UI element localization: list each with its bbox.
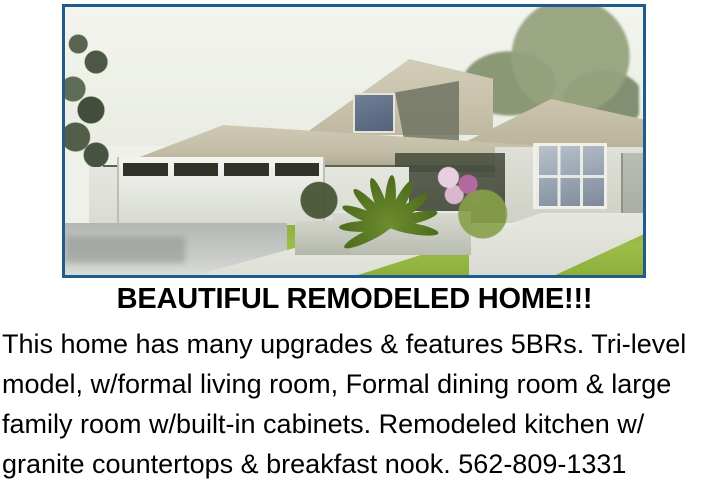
advertisement-body: This home has many upgrades & features 5… [2,324,707,484]
real-estate-advertisement: BEAUTIFUL REMODELED HOME!!! This home ha… [0,0,709,486]
gable-window [353,93,395,133]
advertisement-headline: BEAUTIFUL REMODELED HOME!!! [0,283,709,316]
property-photo [65,7,643,275]
garage-door-windows [123,163,319,176]
front-window [533,143,607,209]
body-line: This home has many upgrades & features 5… [2,324,707,364]
shrub-left [297,175,341,221]
tree-left [65,17,123,167]
driveway-shadow [65,237,185,263]
body-line: family room w/built-in cabinets. Remodel… [2,404,707,444]
garage-window-pane [123,163,168,176]
shrub-right [457,185,513,243]
body-line: model, w/formal living room, Formal dini… [2,364,707,404]
garage-window-pane [224,163,269,176]
property-photo-frame [62,4,646,278]
body-line-with-phone: granite countertops & breakfast nook. 56… [2,444,707,484]
garage-window-pane [174,163,219,176]
